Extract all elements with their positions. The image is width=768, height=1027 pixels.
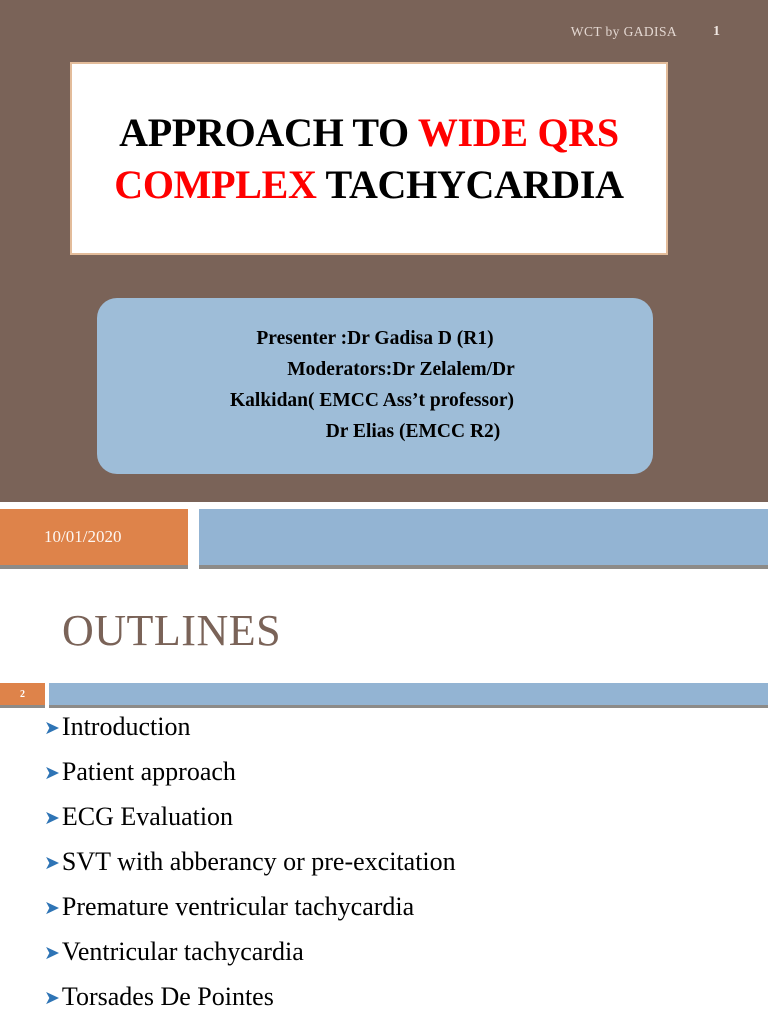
arrow-bullet-icon: ➤ <box>44 944 60 963</box>
slide-header-title: WCT by GADISA <box>571 24 677 40</box>
page-title: APPROACH TO WIDE QRS COMPLEX TACHYCARDIA <box>72 107 666 209</box>
presenter-line-kalkidan: Kalkidan( EMCC Ass’t professor) <box>113 386 637 417</box>
footer-accent-bar <box>199 509 768 565</box>
presenter-line-moderators: Moderators:Dr Zelalem/Dr <box>113 355 637 386</box>
title-segment-tachycardia: TACHYCARDIA <box>317 162 624 207</box>
presenter-line-presenter: Presenter :Dr Gadisa D (R1) <box>113 324 637 355</box>
title-segment-approach-to: APPROACH TO <box>119 110 418 155</box>
arrow-bullet-icon: ➤ <box>44 809 60 828</box>
slide-footer-strip: 10/01/2020 <box>0 509 768 571</box>
list-item-label: ECG Evaluation <box>62 802 233 832</box>
arrow-bullet-icon: ➤ <box>44 989 60 1008</box>
date-label: 10/01/2020 <box>44 527 121 547</box>
slide-page-number: 1 <box>713 24 720 40</box>
title-box: APPROACH TO WIDE QRS COMPLEX TACHYCARDIA <box>70 62 668 255</box>
slide-title: WCT by GADISA 1 APPROACH TO WIDE QRS COM… <box>0 0 768 502</box>
arrow-bullet-icon: ➤ <box>44 899 60 918</box>
list-item-label: Torsades De Pointes <box>62 982 274 1012</box>
list-item-label: Introduction <box>62 712 191 742</box>
arrow-bullet-icon: ➤ <box>44 854 60 873</box>
outlines-list: ➤ Introduction ➤ Patient approach ➤ ECG … <box>44 712 754 1027</box>
list-item-label: Patient approach <box>62 757 236 787</box>
list-item: ➤ Patient approach <box>44 757 754 802</box>
list-item: ➤ ECG Evaluation <box>44 802 754 847</box>
list-item: ➤ Ventricular tachycardia <box>44 937 754 982</box>
presenter-text: Presenter :Dr Gadisa D (R1) Moderators:D… <box>97 324 653 447</box>
presentation-page: WCT by GADISA 1 APPROACH TO WIDE QRS COM… <box>0 0 768 1024</box>
outlines-heading: OUTLINES <box>62 605 281 656</box>
list-item: ➤ Introduction <box>44 712 754 757</box>
slide-number-badge: 2 <box>0 683 45 705</box>
arrow-bullet-icon: ➤ <box>44 719 60 738</box>
presenter-box: Presenter :Dr Gadisa D (R1) Moderators:D… <box>97 298 653 474</box>
date-block: 10/01/2020 <box>0 509 188 565</box>
slide-outlines: OUTLINES 2 ➤ Introduction ➤ Patient appr… <box>0 580 768 1024</box>
list-item: ➤ Premature ventricular tachycardia <box>44 892 754 937</box>
list-item-label: Ventricular tachycardia <box>62 937 304 967</box>
footer-accent-bar-shadow <box>199 565 768 569</box>
slide-number-label: 2 <box>20 689 25 700</box>
list-item-label: Premature ventricular tachycardia <box>62 892 414 922</box>
title-segment-wide-qrs: WIDE QRS <box>418 110 619 155</box>
title-segment-complex: COMPLEX <box>114 162 316 207</box>
list-item: ➤ Torsades De Pointes <box>44 982 754 1027</box>
slide-header: WCT by GADISA 1 <box>0 20 768 44</box>
outlines-accent-bar-shadow <box>49 705 768 708</box>
list-item-label: SVT with abberancy or pre-excitation <box>62 847 456 877</box>
outlines-accent-bar <box>49 683 768 705</box>
arrow-bullet-icon: ➤ <box>44 764 60 783</box>
date-block-shadow <box>0 565 188 569</box>
outlines-divider: 2 <box>0 683 768 709</box>
list-item: ➤ SVT with abberancy or pre-excitation <box>44 847 754 892</box>
presenter-line-elias: Dr Elias (EMCC R2) <box>113 417 637 448</box>
slide-number-badge-shadow <box>0 705 45 708</box>
